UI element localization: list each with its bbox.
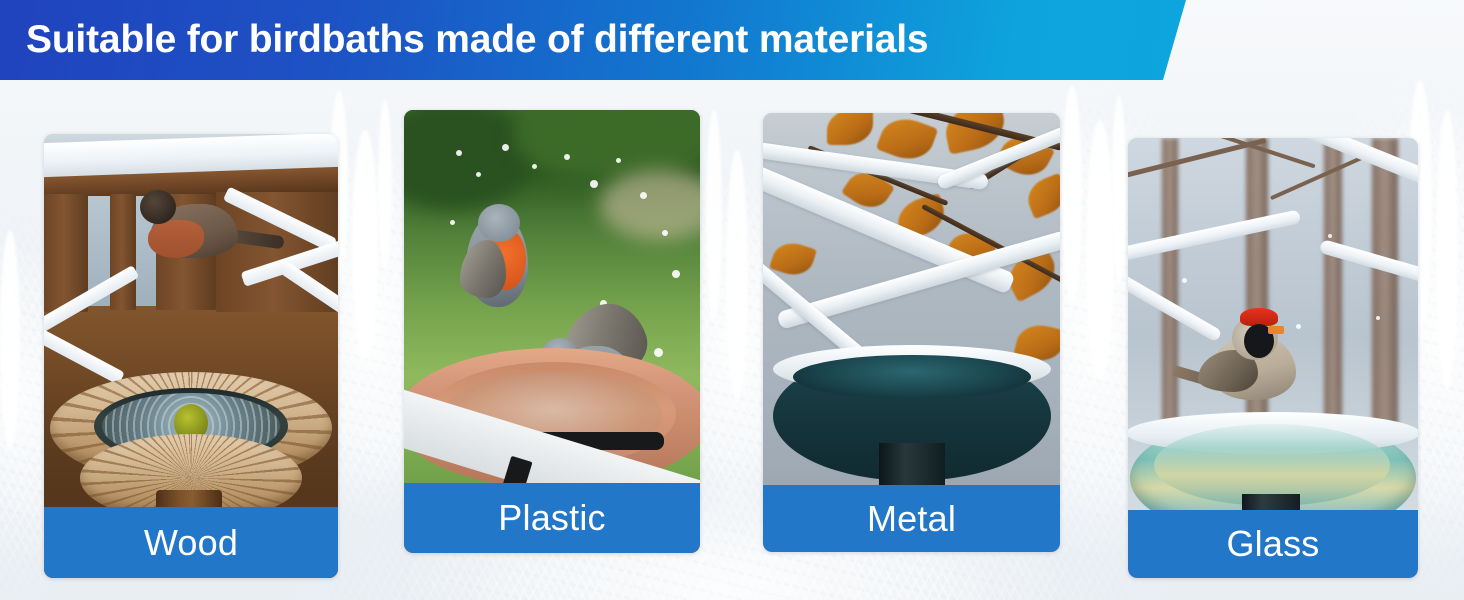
frost-branch-decor	[1112, 95, 1126, 285]
water-droplet	[450, 220, 455, 225]
card-plastic[interactable]: Plastic	[404, 110, 700, 553]
card-glass[interactable]: Glass	[1128, 138, 1418, 578]
frost-branch-decor	[352, 130, 378, 360]
frost-branch-decor	[726, 150, 748, 400]
label-glass: Glass	[1226, 526, 1319, 562]
wood-slat	[110, 194, 136, 310]
falling-snowflake	[1296, 324, 1301, 329]
water-droplet	[564, 154, 570, 160]
header-banner: Suitable for birdbaths made of different…	[0, 0, 1186, 80]
frost-branch-decor	[378, 100, 392, 270]
frost-branch-decor	[1062, 85, 1082, 305]
water-droplet	[476, 172, 481, 177]
frost-branch-decor	[1086, 120, 1114, 380]
water-droplet	[590, 180, 598, 188]
banner-title: Suitable for birdbaths made of different…	[26, 11, 928, 69]
water-droplet	[456, 150, 462, 156]
label-wood: Wood	[144, 525, 238, 561]
frost-branch-decor	[706, 110, 722, 320]
water-droplet	[532, 164, 537, 169]
wood-bird-head	[140, 190, 176, 224]
water-droplet	[616, 158, 621, 163]
label-bar-plastic: Plastic	[404, 483, 700, 553]
falling-snowflake	[1182, 278, 1187, 283]
card-metal[interactable]: Metal	[763, 113, 1060, 552]
label-bar-glass: Glass	[1128, 510, 1418, 578]
water-droplet	[502, 144, 509, 151]
water-droplet	[662, 230, 668, 236]
card-wood[interactable]: Wood	[44, 134, 338, 578]
label-metal: Metal	[867, 501, 956, 537]
label-bar-wood: Wood	[44, 507, 338, 578]
frost-branch-decor	[0, 230, 20, 450]
water-droplet	[654, 348, 663, 357]
background-tree-trunk	[1162, 138, 1178, 438]
promo-banner-image: Suitable for birdbaths made of different…	[0, 0, 1464, 600]
water-droplet	[640, 192, 647, 199]
background-tree-trunk	[1372, 138, 1398, 438]
falling-snowflake	[1328, 234, 1332, 238]
metal-bowl-interior	[793, 355, 1031, 399]
falling-snowflake	[1376, 316, 1380, 320]
frost-branch-decor	[1436, 110, 1458, 390]
glass-bird-beak	[1268, 326, 1284, 334]
plastic-robin-left-head	[478, 204, 520, 242]
background-tree-trunk	[1324, 138, 1342, 438]
water-droplet	[672, 270, 680, 278]
label-bar-metal: Metal	[763, 485, 1060, 552]
label-plastic: Plastic	[498, 500, 605, 536]
